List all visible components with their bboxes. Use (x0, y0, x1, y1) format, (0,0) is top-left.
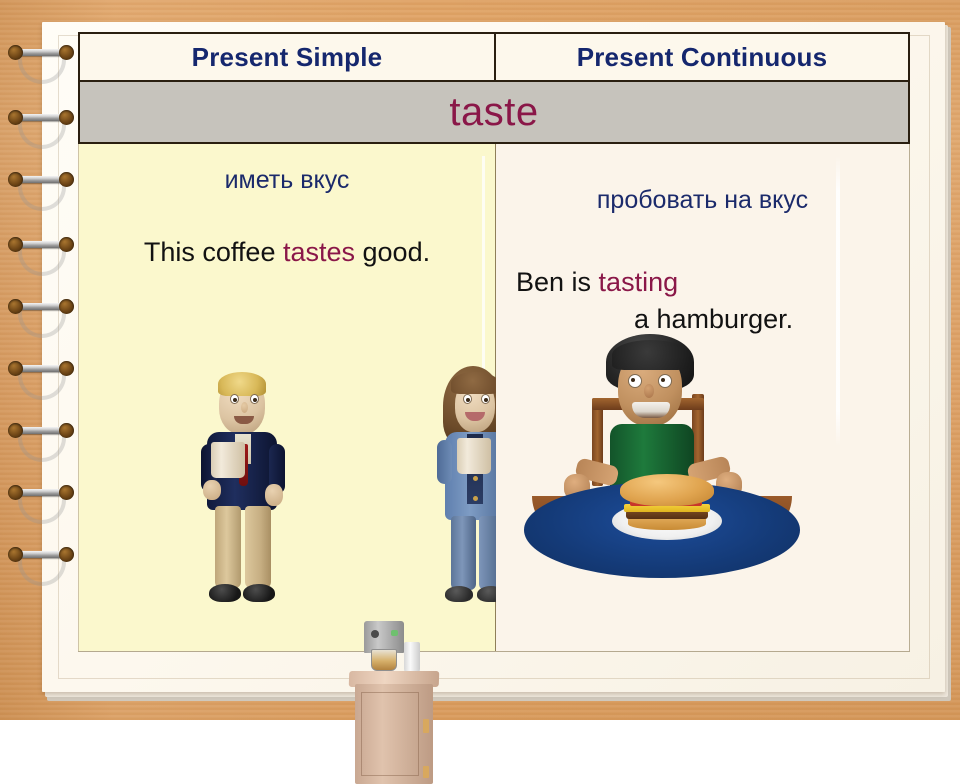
woman-eye-left (463, 394, 472, 404)
man-coffee-mug (211, 442, 245, 478)
verb-row: taste (78, 82, 910, 144)
spiral-ring-hole-right (59, 423, 74, 438)
column-header-present-simple: Present Simple (78, 32, 496, 82)
coffee-machine-button (371, 630, 379, 638)
cabinet-handle-upper (423, 719, 429, 733)
spiral-ring-hole-right (59, 547, 74, 562)
table-body-row: иметь вкус This coffee tastes good. (78, 144, 910, 652)
man-leg-right (245, 506, 271, 588)
spiral-ring-hole-left (8, 110, 23, 125)
table-header-row: Present Simple Present Continuous (78, 32, 910, 82)
boy-eye-right (658, 374, 672, 388)
spiral-ring (8, 45, 74, 60)
man-hand-left (203, 480, 221, 500)
man-shoe-left (209, 584, 241, 602)
man-shoe-right (243, 584, 275, 602)
spiral-ring-hole-right (59, 361, 74, 376)
coffee-machine-indicator (391, 630, 398, 636)
spiral-ring-hole-left (8, 237, 23, 252)
verb-word: taste (449, 90, 538, 135)
spiral-ring-hole-right (59, 45, 74, 60)
spiral-ring (8, 361, 74, 376)
paper-cup-stack (404, 642, 420, 674)
boy-mouth-smile (632, 402, 670, 418)
boy-bangs (612, 340, 690, 370)
coffee-machine-pot (371, 649, 397, 671)
woman-coffee-mug (457, 438, 491, 474)
woman-button-2 (473, 476, 478, 481)
spiral-ring-hole-right (59, 110, 74, 125)
spiral-ring-hole-right (59, 172, 74, 187)
woman-hair-front (451, 372, 499, 394)
man-eye-right (250, 394, 259, 404)
column-header-present-continuous: Present Continuous (496, 32, 910, 82)
spiral-ring (8, 547, 74, 562)
spiral-ring (8, 299, 74, 314)
man-nose (241, 402, 248, 413)
woman-eye-right (481, 394, 490, 404)
man-hair (218, 372, 266, 396)
spiral-ring-hole-left (8, 485, 23, 500)
boy-nose (644, 384, 654, 398)
spiral-ring (8, 485, 74, 500)
spiral-ring (8, 110, 74, 125)
woman-leg-left (451, 516, 476, 590)
spiral-ring-hole-right (59, 485, 74, 500)
man-eye-left (230, 394, 239, 404)
boy-eye-left (628, 374, 642, 388)
woman-arm-left (437, 440, 452, 484)
spiral-ring-hole-right (59, 237, 74, 252)
cabinet-handle-lower (423, 766, 429, 778)
man-hand-right (265, 484, 283, 506)
woman-button-3 (473, 496, 478, 501)
cell-present-simple: иметь вкус This coffee tastes good. (78, 144, 496, 651)
woman-shoe-left (445, 586, 473, 602)
grammar-comparison-table: Present Simple Present Continuous taste … (78, 32, 910, 652)
spiral-ring (8, 237, 74, 252)
burger-top-bun (620, 474, 714, 506)
spiral-ring-hole-right (59, 299, 74, 314)
cell-present-continuous: пробовать на вкус Ben is tasting a hambu… (496, 144, 910, 651)
spiral-ring-hole-left (8, 361, 23, 376)
spiral-ring-hole-left (8, 299, 23, 314)
cabinet-door (361, 692, 419, 776)
illustration-two-people-drinking-coffee (79, 144, 497, 652)
spiral-ring (8, 423, 74, 438)
spiral-ring-hole-left (8, 45, 23, 60)
spiral-ring-hole-left (8, 547, 23, 562)
spiral-ring-hole-left (8, 423, 23, 438)
spiral-ring-hole-left (8, 172, 23, 187)
man-leg-left (215, 506, 241, 588)
spiral-ring (8, 172, 74, 187)
illustration-boy-with-hamburger (496, 144, 910, 652)
